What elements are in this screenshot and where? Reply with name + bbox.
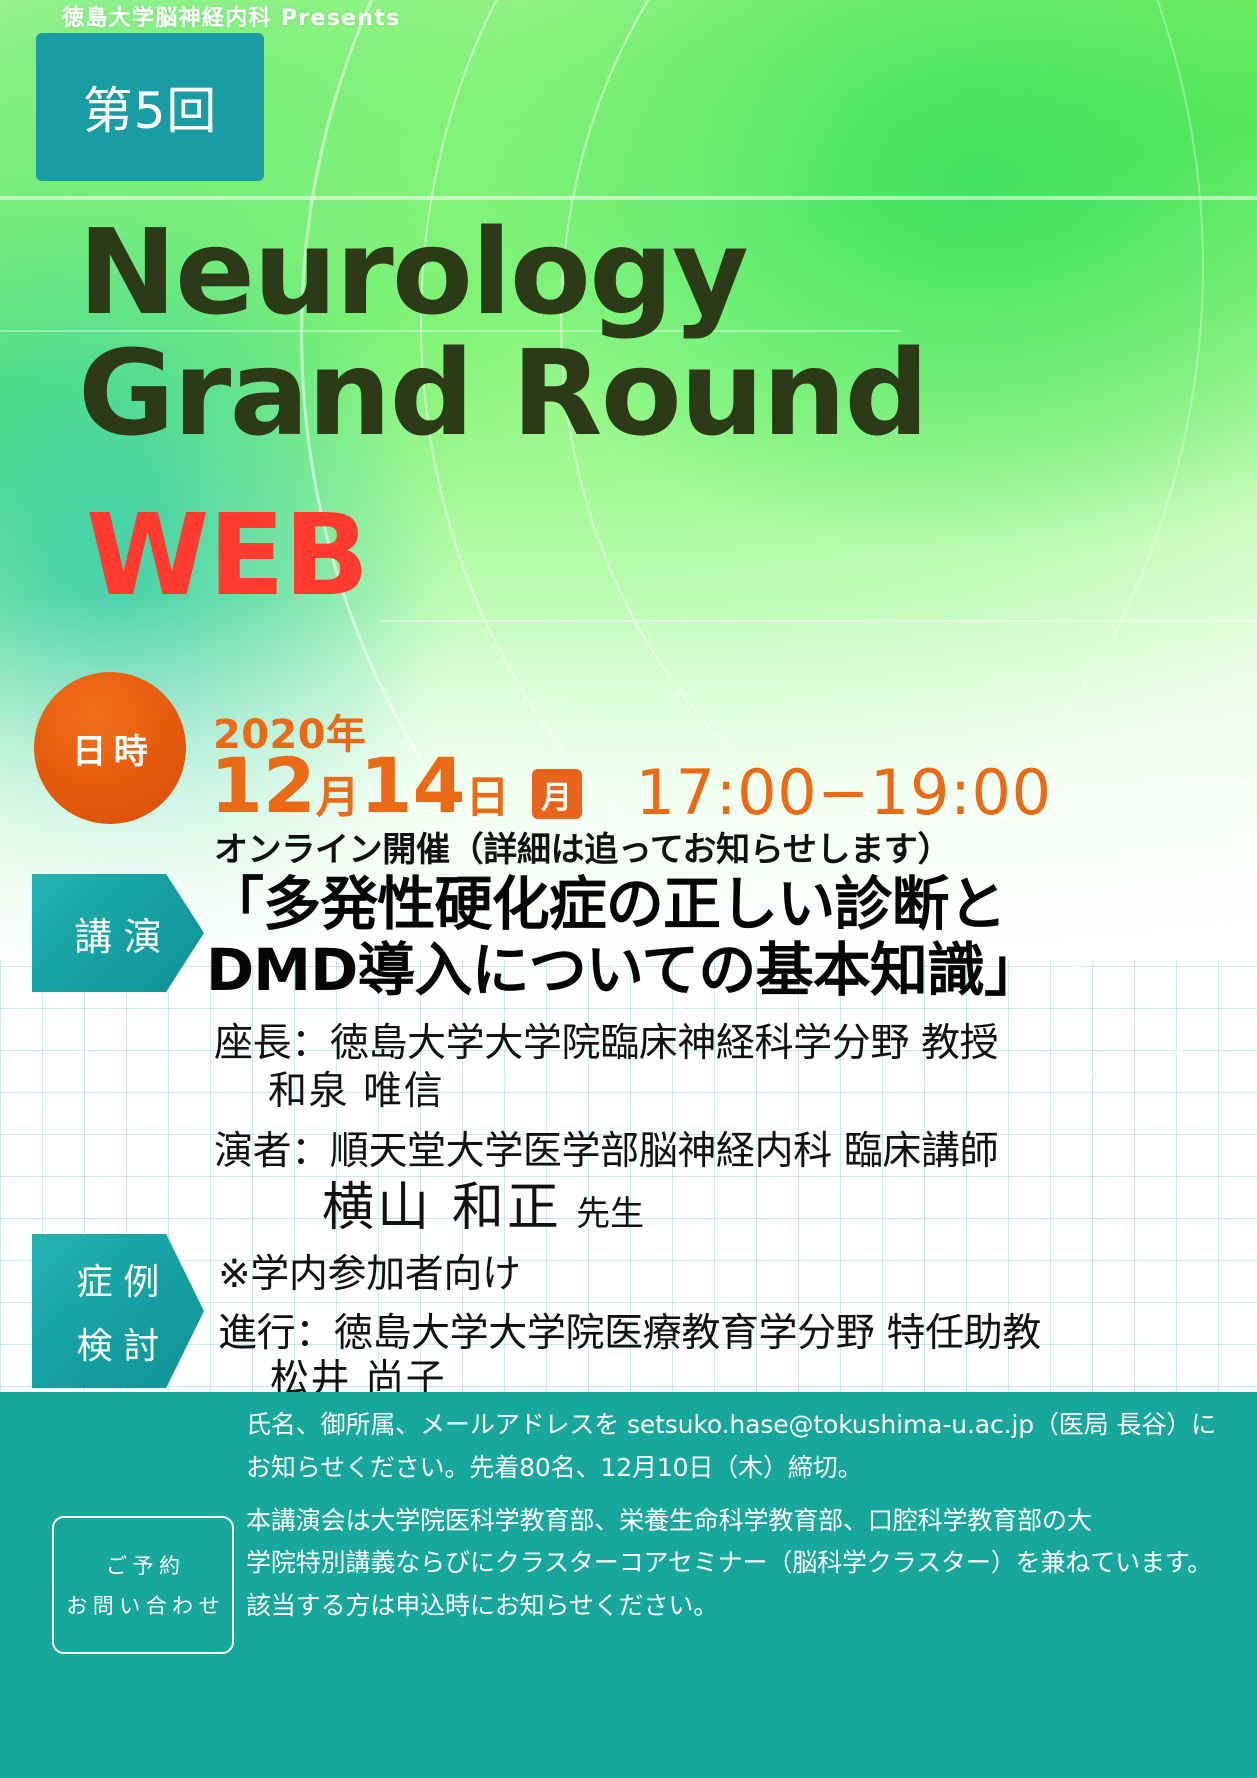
lecture-title-line-2: DMD導入についての基本知識」	[206, 938, 1241, 1004]
contact-para2-line1: 本講演会は大学院医科学教育部、栄養生命科学教育部、口腔科学教育部の大	[246, 1502, 1226, 1541]
contact-para1-line1: 氏名、御所属、メールアドレスを setsuko.hase@tokushima-u…	[246, 1406, 1226, 1445]
lecture-title-line-1: 「多発性硬化症の正しい診断と	[206, 872, 1241, 938]
background-light-streak	[0, 196, 1257, 200]
title-web-label: WEB	[86, 500, 368, 612]
background-light-streak	[380, 620, 1257, 622]
contact-instructions: 氏名、御所属、メールアドレスを setsuko.hase@tokushima-u…	[246, 1406, 1226, 1630]
event-weekday-badge: 月	[532, 769, 582, 819]
event-date-row: 12 月 14 日 月 17:00−19:00	[210, 748, 1052, 824]
contact-badge-line-2: お問い合わせ	[61, 1590, 225, 1620]
title-line-2: Grand Round	[78, 337, 1078, 450]
chair-name: 和泉 唯信	[268, 1060, 444, 1116]
case-badge-label-line-1: 症例	[66, 1253, 170, 1305]
event-day-unit: 日	[466, 776, 510, 820]
speaker-name: 横山 和正	[322, 1178, 562, 1238]
presents-line: 徳島大学脳神経内科 Presents	[62, 0, 401, 32]
edition-badge: 第5回	[36, 33, 264, 181]
speaker-name-row: 横山 和正先生	[322, 1165, 644, 1240]
contact-badge-line-1: ご予約	[101, 1550, 186, 1580]
lecture-badge-label: 講演	[63, 906, 173, 961]
footer: ご予約 お問い合わせ 氏名、御所属、メールアドレスを setsuko.hase@…	[0, 1392, 1257, 1778]
poster-root: 徳島大学脳神経内科 Presents 第5回 Neurology Grand R…	[0, 0, 1257, 1778]
speaker-honorific: 先生	[576, 1194, 644, 1234]
contact-para2-line3: 該当する方は申込時にお知らせください。	[246, 1587, 1226, 1626]
title-line-1: Neurology	[78, 216, 1078, 329]
datetime-badge: 日時	[34, 672, 186, 824]
case-badge-label-line-2: 検討	[66, 1317, 170, 1369]
contact-badge: ご予約 お問い合わせ	[52, 1516, 234, 1654]
page-title: Neurology Grand Round	[78, 216, 1078, 451]
case-study-note: ※学内参加者向け	[218, 1243, 521, 1299]
lecture-title: 「多発性硬化症の正しい診断と DMD導入についての基本知識」	[206, 872, 1241, 1003]
event-month-unit: 月	[316, 776, 360, 820]
event-time-range: 17:00−19:00	[636, 762, 1052, 824]
contact-para2-line2: 学院特別講義ならびにクラスターコアセミナー（脳科学クラスター）を兼ねています。	[246, 1544, 1226, 1583]
event-day-number: 14	[360, 748, 466, 824]
event-month-number: 12	[210, 748, 316, 824]
venue-note: オンライン開催（詳細は追ってお知らせします）	[214, 822, 951, 871]
contact-para1-line2: お知らせください。先着80名、12月10日（木）締切。	[246, 1449, 1226, 1488]
